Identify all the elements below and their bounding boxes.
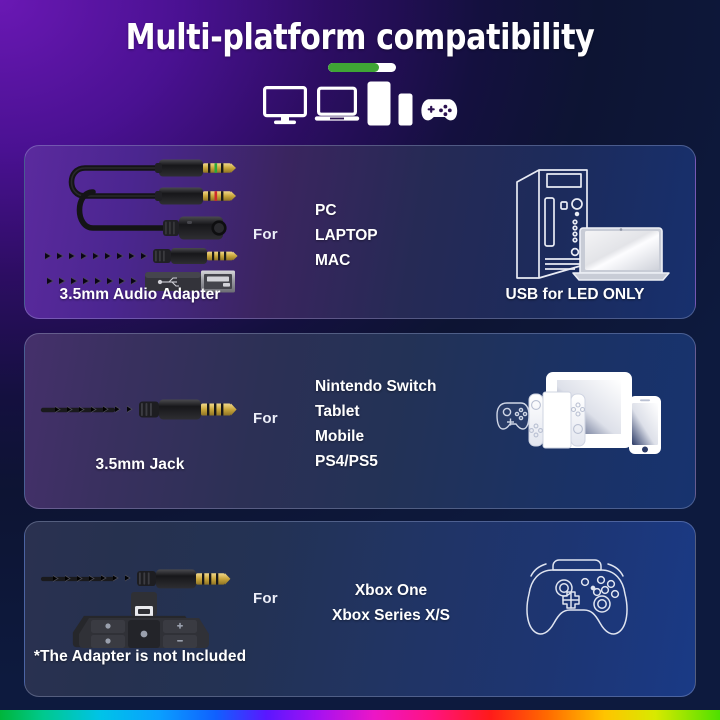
product-caption: *The Adapter is not Included (25, 648, 255, 666)
header: Multi-platform compatibility (0, 0, 720, 132)
platform-item: Xbox One (301, 578, 481, 603)
switch-tablet-phone-image (455, 334, 695, 508)
compat-card-xbox: *The Adapter is not Included For Xbox On… (24, 521, 696, 697)
xbox-adapter-image: *The Adapter is not Included (25, 522, 255, 696)
platform-item: Mobile (315, 424, 436, 449)
progress-divider-fill (328, 63, 379, 72)
promo-graphic: Multi-platform compatibility (0, 0, 720, 720)
laptop-icon (314, 86, 360, 126)
platform-item: PS4/PS5 (315, 449, 436, 474)
xbox-controller-image (455, 522, 695, 696)
rgb-light-strip (0, 710, 720, 720)
monitor-icon (263, 86, 307, 126)
progress-divider (328, 63, 396, 72)
platform-item: MAC (315, 248, 378, 273)
product-caption: 3.5mm Jack (25, 456, 255, 474)
audio-splitter-cable-image: 3.5mm Audio Adapter (25, 146, 255, 318)
platform-item: LAPTOP (315, 223, 378, 248)
compat-card-switch: 3.5mm Jack For Nintendo Switch Tablet Mo… (24, 333, 696, 509)
pc-tower-and-laptop-image: USB for LED ONLY (455, 146, 695, 318)
device-caption: USB for LED ONLY (455, 286, 695, 304)
product-caption: 3.5mm Audio Adapter (25, 286, 255, 304)
platform-list: Nintendo Switch Tablet Mobile PS4/PS5 (315, 374, 436, 474)
platform-item: PC (315, 198, 378, 223)
tablet-icon (367, 81, 391, 126)
for-label: For (253, 590, 278, 607)
jack-cable-image: 3.5mm Jack (25, 334, 255, 508)
compat-card-pc: 3.5mm Audio Adapter For PC LAPTOP MAC (24, 145, 696, 319)
for-label: For (253, 226, 278, 243)
platform-list: Xbox One Xbox Series X/S (301, 578, 481, 628)
platform-item: Xbox Series X/S (301, 603, 481, 628)
for-label: For (253, 410, 278, 427)
phone-icon (398, 93, 413, 126)
page-title: Multi-platform compatibility (25, 17, 695, 58)
platform-item: Tablet (315, 399, 436, 424)
device-icon-strip (0, 78, 720, 126)
platform-list: PC LAPTOP MAC (315, 198, 378, 273)
gamepad-icon (420, 96, 458, 126)
platform-item: Nintendo Switch (315, 374, 436, 399)
